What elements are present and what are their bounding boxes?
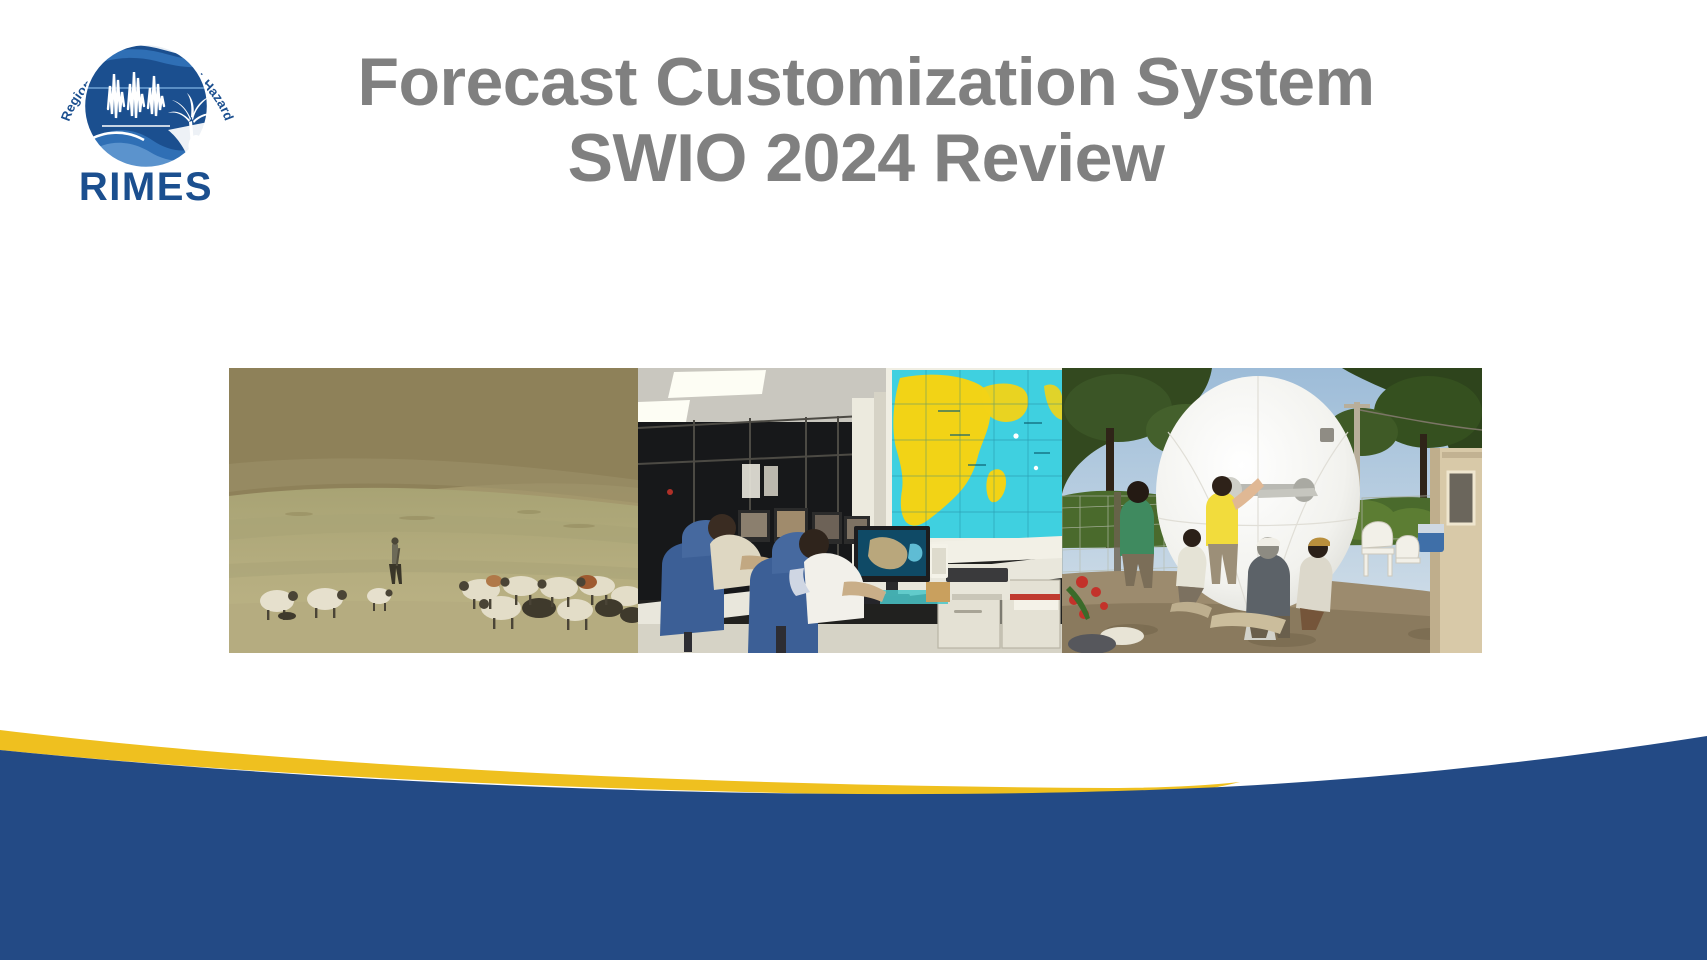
logo-acronym: RIMES bbox=[79, 165, 213, 209]
printer bbox=[944, 564, 1010, 600]
pastoral-shepherd-photo bbox=[229, 368, 638, 653]
satellite-dish-installation-photo bbox=[1062, 368, 1482, 653]
wall-map bbox=[892, 370, 1062, 538]
page-title: Forecast Customization System SWIO 2024 … bbox=[246, 48, 1486, 200]
photo-strip bbox=[229, 368, 1482, 653]
byline: Mr. Jie Qiu June 2025, Mauritius bbox=[0, 798, 1707, 863]
title-slide: Regional Integrated Multi-Hazard Early W… bbox=[0, 0, 1707, 960]
footer-yellow-band bbox=[0, 730, 1240, 797]
rimes-logo: Regional Integrated Multi-Hazard Early W… bbox=[46, 14, 246, 214]
presenter-name: Mr. Jie Qiu bbox=[0, 798, 1707, 831]
forecast-operations-center-photo bbox=[638, 368, 1062, 653]
title-line-2: SWIO 2024 Review bbox=[246, 117, 1486, 200]
event-date-location: June 2025, Mauritius bbox=[0, 836, 1707, 864]
logo-shore-rocks bbox=[189, 135, 214, 169]
title-line-1: Forecast Customization System bbox=[246, 48, 1486, 117]
